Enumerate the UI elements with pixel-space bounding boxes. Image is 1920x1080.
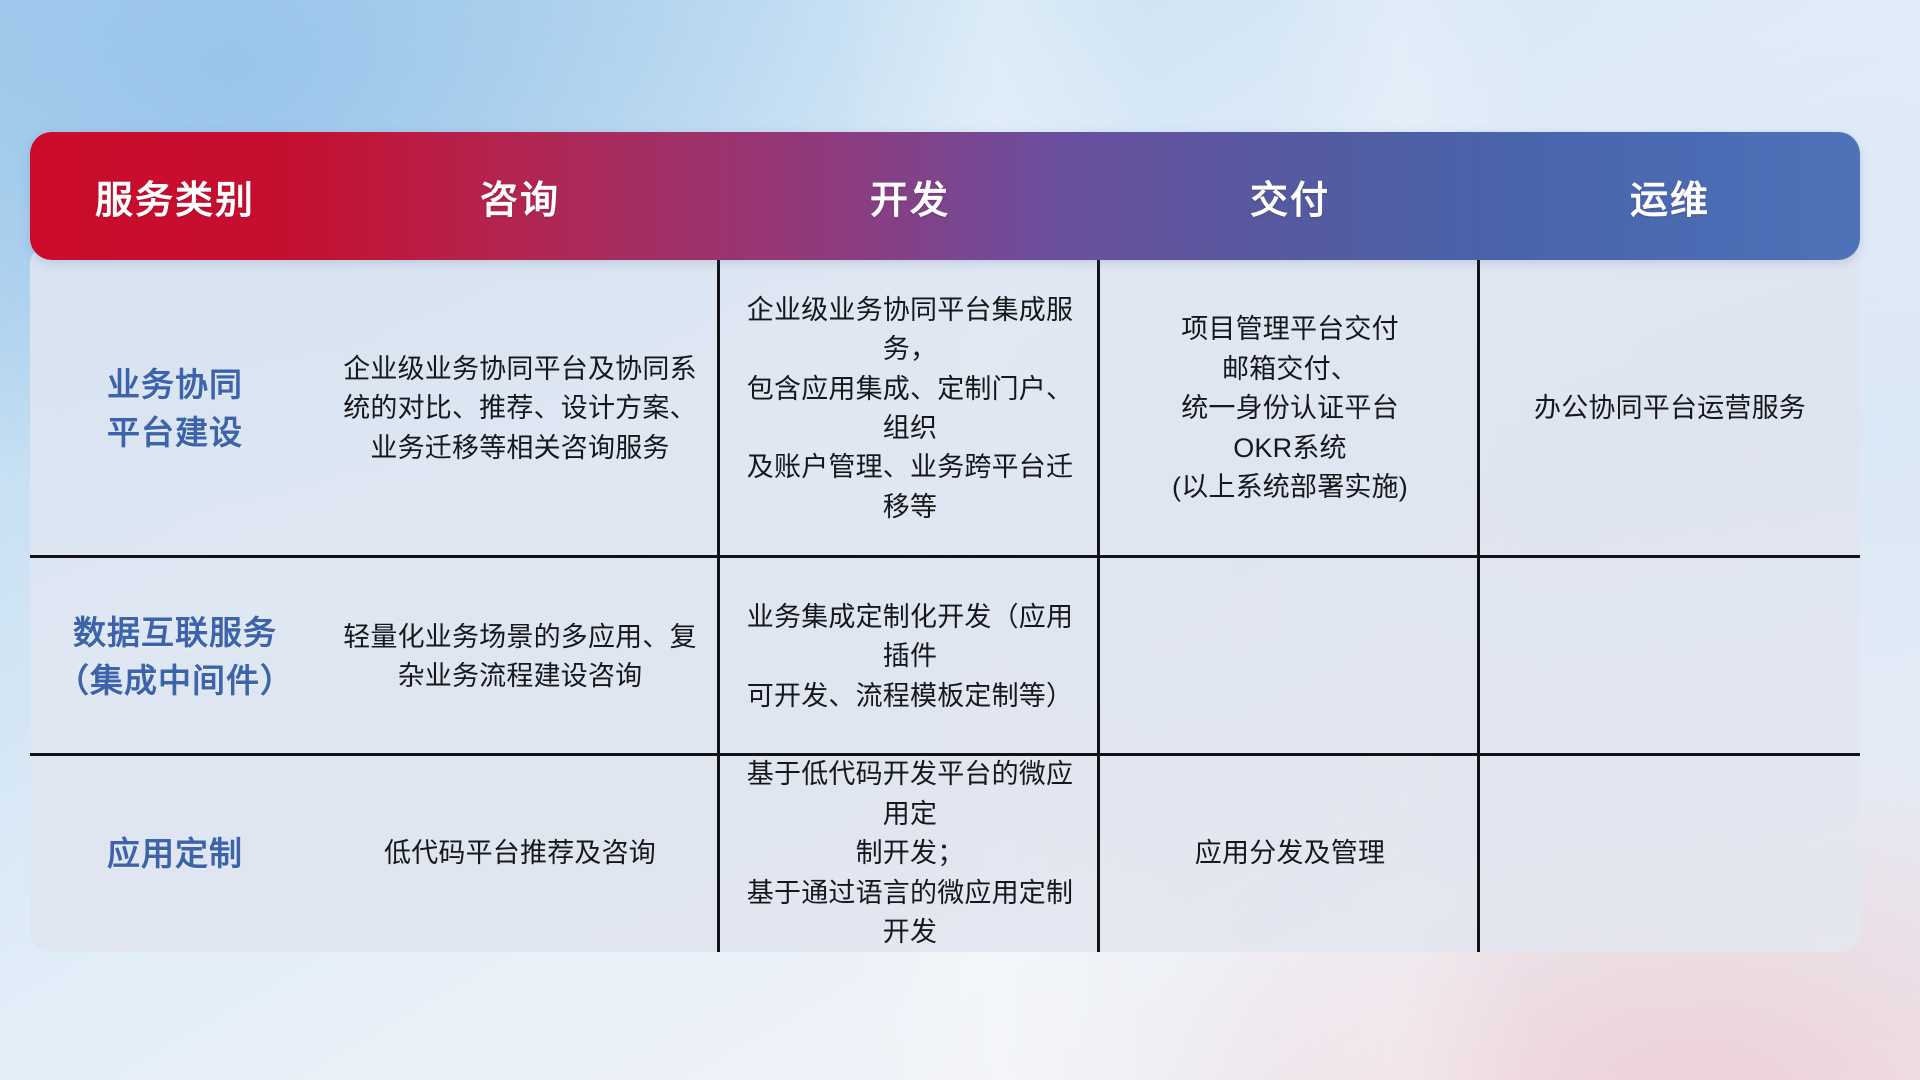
service-matrix-table: 业务协同 平台建设 企业级业务协同平台及协同系 统的对比、推荐、设计方案、 业务… xyxy=(30,132,1860,952)
slide-canvas: 业务协同 平台建设 企业级业务协同平台及协同系 统的对比、推荐、设计方案、 业务… xyxy=(0,0,1920,1080)
cell-delivery: 应用分发及管理 xyxy=(1100,756,1480,952)
row-label-text: 数据互联服务 （集成中间件） xyxy=(56,609,294,705)
column-header-service-category: 服务类别 xyxy=(30,169,320,224)
table-row: 业务协同 平台建设 企业级业务协同平台及协同系 统的对比、推荐、设计方案、 业务… xyxy=(30,260,1860,558)
table-row: 应用定制 低代码平台推荐及咨询 基于低代码开发平台的微应用定 制开发； 基于通过… xyxy=(30,756,1860,952)
column-header-operations: 运维 xyxy=(1480,169,1860,224)
cell-text: 低代码平台推荐及咨询 xyxy=(384,834,656,873)
cell-text: 业务集成定制化开发（应用插件 可开发、流程模板定制等） xyxy=(736,598,1084,716)
cell-text: 应用分发及管理 xyxy=(1195,834,1385,873)
column-header-consulting: 咨询 xyxy=(320,169,720,224)
cell-consulting: 企业级业务协同平台及协同系 统的对比、推荐、设计方案、 业务迁移等相关咨询服务 xyxy=(320,260,720,558)
row-label-text: 业务协同 平台建设 xyxy=(107,361,243,457)
cell-delivery xyxy=(1100,558,1480,756)
row-label-cell: 业务协同 平台建设 xyxy=(30,260,320,558)
cell-delivery: 项目管理平台交付 邮箱交付、 统一身份认证平台 OKR系统 (以上系统部署实施) xyxy=(1100,260,1480,558)
cell-operations: 办公协同平台运营服务 xyxy=(1480,260,1860,558)
cell-consulting: 轻量化业务场景的多应用、复 杂业务流程建设咨询 xyxy=(320,558,720,756)
table-body-panel: 业务协同 平台建设 企业级业务协同平台及协同系 统的对比、推荐、设计方案、 业务… xyxy=(30,244,1860,952)
cell-text: 轻量化业务场景的多应用、复 杂业务流程建设咨询 xyxy=(343,618,697,697)
table-header-bar: 服务类别 咨询 开发 交付 运维 xyxy=(30,132,1860,260)
cell-operations xyxy=(1480,558,1860,756)
cell-text: 项目管理平台交付 邮箱交付、 统一身份认证平台 OKR系统 (以上系统部署实施) xyxy=(1172,310,1408,507)
row-label-cell: 应用定制 xyxy=(30,756,320,952)
cell-development: 企业级业务协同平台集成服务， 包含应用集成、定制门户、组织 及账户管理、业务跨平… xyxy=(720,260,1100,558)
cell-text: 企业级业务协同平台集成服务， 包含应用集成、定制门户、组织 及账户管理、业务跨平… xyxy=(736,291,1084,527)
row-label-text: 应用定制 xyxy=(107,830,243,878)
table-header-row: 服务类别 咨询 开发 交付 运维 xyxy=(30,132,1860,260)
cell-text: 基于低代码开发平台的微应用定 制开发； 基于通过语言的微应用定制开发 xyxy=(736,755,1084,952)
cell-consulting: 低代码平台推荐及咨询 xyxy=(320,756,720,952)
cell-operations xyxy=(1480,756,1860,952)
cell-text: 办公协同平台运营服务 xyxy=(1534,389,1806,428)
cell-development: 基于低代码开发平台的微应用定 制开发； 基于通过语言的微应用定制开发 xyxy=(720,756,1100,952)
table-rows: 业务协同 平台建设 企业级业务协同平台及协同系 统的对比、推荐、设计方案、 业务… xyxy=(30,260,1860,952)
column-header-development: 开发 xyxy=(720,169,1100,224)
cell-development: 业务集成定制化开发（应用插件 可开发、流程模板定制等） xyxy=(720,558,1100,756)
row-label-cell: 数据互联服务 （集成中间件） xyxy=(30,558,320,756)
table-row: 数据互联服务 （集成中间件） 轻量化业务场景的多应用、复 杂业务流程建设咨询 业… xyxy=(30,558,1860,756)
column-header-delivery: 交付 xyxy=(1100,169,1480,224)
cell-text: 企业级业务协同平台及协同系 统的对比、推荐、设计方案、 业务迁移等相关咨询服务 xyxy=(343,350,697,468)
